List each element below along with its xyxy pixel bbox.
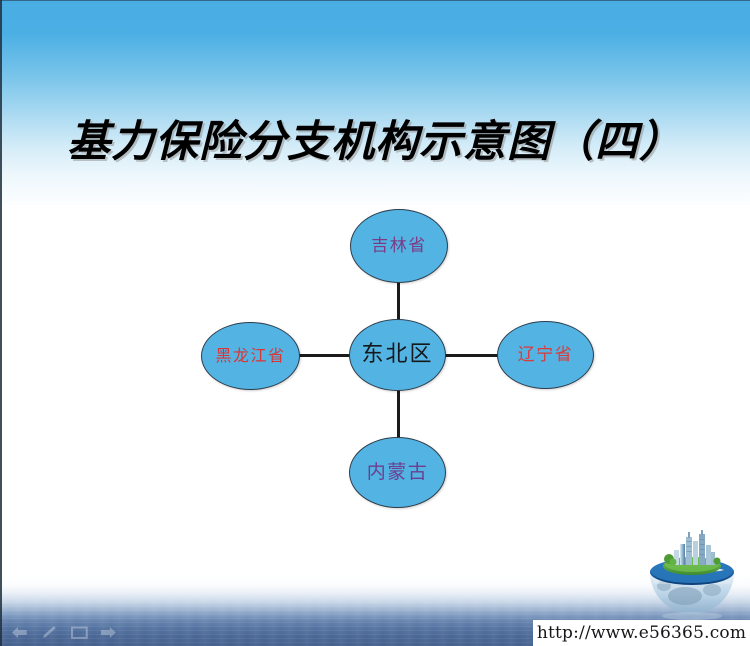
node-liaoning-label: 辽宁省 [518, 347, 574, 364]
node-inner-mongolia-label: 内蒙古 [367, 463, 429, 482]
node-jilin-label: 吉林省 [371, 238, 427, 255]
node-heilongjiang[interactable]: 黑龙江省 [201, 322, 300, 390]
slide-icon[interactable] [70, 625, 89, 640]
globe-city-logo [640, 528, 744, 620]
presentation-nav-controls[interactable] [10, 622, 118, 642]
node-inner-mongolia[interactable]: 内蒙古 [349, 437, 446, 508]
node-heilongjiang-label: 黑龙江省 [215, 348, 285, 364]
node-liaoning[interactable]: 辽宁省 [497, 321, 594, 389]
footer-url-text[interactable]: http://www.e56365.com [537, 623, 746, 643]
previous-arrow-icon[interactable] [10, 625, 29, 640]
presentation-slide: 基力保险分支机构示意图（四） 吉林省 黑龙江省 东北区 辽宁省 内蒙古 [0, 0, 750, 646]
org-structure-diagram: 吉林省 黑龙江省 东北区 辽宁省 内蒙古 [0, 0, 750, 646]
node-northeast-region-label: 东北区 [361, 344, 433, 366]
node-jilin[interactable]: 吉林省 [350, 209, 448, 283]
pen-icon[interactable] [40, 625, 59, 640]
city-skyline [674, 530, 715, 565]
globe-reflection [662, 612, 722, 620]
connector-center-to-left [292, 354, 354, 357]
connector-center-to-right [441, 354, 503, 357]
node-northeast-region[interactable]: 东北区 [349, 319, 446, 391]
next-arrow-icon[interactable] [99, 625, 118, 640]
footer-url-box: http://www.e56365.com [533, 620, 750, 646]
